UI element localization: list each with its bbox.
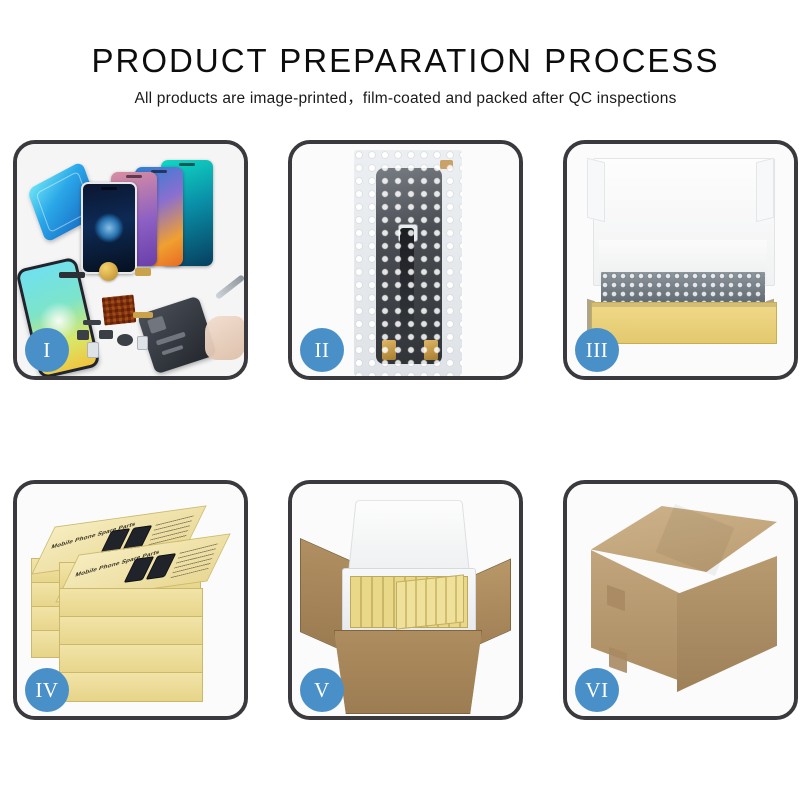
lid-flap-left bbox=[587, 158, 605, 222]
process-step-panel-4[interactable]: Mobile Phone Spare Parts Mobile Phone Sp… bbox=[13, 480, 248, 720]
tape-tab bbox=[440, 160, 453, 169]
connector-part bbox=[77, 330, 89, 340]
process-step-panel-2[interactable]: II bbox=[288, 140, 523, 380]
battery-connector-part bbox=[137, 336, 148, 350]
screen-flex-cable bbox=[400, 228, 414, 340]
page-header: PRODUCT PREPARATION PROCESS All products… bbox=[0, 0, 811, 107]
gold-contact-part bbox=[135, 268, 151, 276]
page-subtitle: All products are image-printed，film-coat… bbox=[0, 91, 811, 107]
gold-flex-part bbox=[133, 312, 153, 318]
page-title: PRODUCT PREPARATION PROCESS bbox=[0, 44, 811, 77]
logic-board-part bbox=[102, 294, 137, 325]
carton-side-face bbox=[677, 556, 777, 692]
process-step-panel-5[interactable]: V bbox=[288, 480, 523, 720]
foam-lid-open bbox=[348, 500, 470, 575]
antenna-strip-part bbox=[156, 332, 186, 346]
retail-box-stack: Mobile Phone Spare Parts Mobile Phone Sp… bbox=[23, 502, 239, 698]
step-badge-2: II bbox=[300, 328, 344, 372]
bubble-wrap-bag bbox=[354, 150, 462, 376]
flex-cable-part bbox=[83, 320, 101, 325]
tweezers-icon bbox=[215, 274, 244, 300]
hand-holding-housing bbox=[205, 316, 244, 360]
step-badge-6: VI bbox=[575, 668, 619, 712]
step-badge-5: V bbox=[300, 668, 344, 712]
gold-contact-right bbox=[424, 340, 438, 360]
phone-screen-fan bbox=[75, 160, 244, 272]
sim-tray-part bbox=[87, 342, 99, 358]
process-step-panel-1[interactable]: I bbox=[13, 140, 248, 380]
yellow-boxes-stack bbox=[396, 574, 464, 629]
phone-screen-dark-blue bbox=[81, 182, 137, 274]
box-spec-lines bbox=[170, 541, 218, 578]
notch-icon bbox=[179, 163, 195, 166]
gold-contact-left bbox=[382, 340, 396, 360]
earpiece-bar-part bbox=[59, 272, 85, 278]
bubble-wrapped-contents bbox=[601, 272, 765, 306]
antenna-strip-part bbox=[161, 345, 183, 356]
step-badge-3: III bbox=[575, 328, 619, 372]
carton-front-face bbox=[591, 550, 683, 682]
step-badge-1: I bbox=[25, 328, 69, 372]
process-step-panel-3[interactable]: III bbox=[563, 140, 798, 380]
carton-body bbox=[334, 630, 482, 714]
lid-flap-right bbox=[756, 158, 774, 222]
retail-box bbox=[59, 672, 203, 702]
vibrator-part bbox=[99, 330, 113, 339]
speaker-coin-part bbox=[99, 262, 118, 281]
process-step-panel-6[interactable]: VI bbox=[563, 480, 798, 720]
process-step-grid: I II III bbox=[0, 140, 811, 720]
notch-icon bbox=[126, 175, 142, 178]
camera-module-part bbox=[147, 316, 167, 334]
notch-icon bbox=[101, 187, 117, 190]
step-badge-4: IV bbox=[25, 668, 69, 712]
speaker-part bbox=[117, 334, 133, 346]
kraft-box-base bbox=[591, 302, 777, 344]
